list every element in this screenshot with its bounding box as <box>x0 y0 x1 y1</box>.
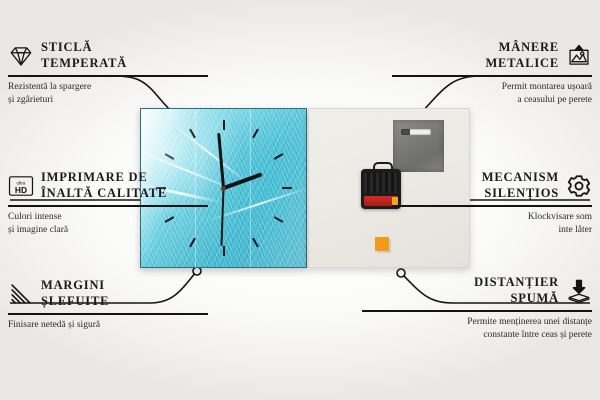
foam-spacer <box>375 237 389 251</box>
clock-minute-hand <box>217 133 225 188</box>
svg-text:HD: HD <box>15 185 27 195</box>
gear-icon <box>566 173 592 199</box>
clock-hour-hand <box>223 172 262 189</box>
callout-imprimare-hd: ultra HD IMPRIMARE DEÎNALTĂ CALITATE Cul… <box>8 170 208 236</box>
callout-rule <box>8 205 208 207</box>
metal-hanger-plate <box>393 120 444 172</box>
callout-rule <box>8 313 208 315</box>
callout-subtitle: Klockvisare sominte låter <box>392 211 592 237</box>
callout-rule <box>8 75 208 77</box>
infographic-canvas: STICLĂTEMPERATĂ Rezistentă la spargereși… <box>0 0 600 400</box>
callout-rule <box>362 310 592 312</box>
mechanism-hanging-loop <box>373 162 393 173</box>
ultra-hd-icon: ultra HD <box>8 173 34 199</box>
callout-title: STICLĂTEMPERATĂ <box>41 40 127 71</box>
callout-subtitle: Permite menținerea unei distanțeconstant… <box>362 316 592 342</box>
polished-edge-icon <box>8 281 34 307</box>
callout-title: MARGINIȘLEFUITE <box>41 278 109 309</box>
arrow-down-pad-icon <box>566 278 592 304</box>
callout-title: MÂNEREMETALICE <box>485 40 559 71</box>
diamond-icon <box>8 43 34 69</box>
callout-sticla-temperata: STICLĂTEMPERATĂ Rezistentă la spargereși… <box>8 40 208 106</box>
callout-subtitle: Finisare netedă și sigură <box>8 319 208 332</box>
callout-subtitle: Permit montarea ușoarăa ceasului pe pere… <box>392 81 592 107</box>
clock-second-hand <box>221 188 225 246</box>
callout-distantier-spuma: DISTANȚIERSPUMĂ Permite menținerea unei … <box>362 275 592 341</box>
callout-subtitle: Rezistentă la spargereși zgârieturi <box>8 81 208 107</box>
callout-rule <box>392 75 592 77</box>
callout-title: MECANISMSILENȚIOS <box>482 170 559 201</box>
callout-rule <box>392 205 592 207</box>
callout-manere-metalice: MÂNEREMETALICE Permit montarea ușoarăa c… <box>392 40 592 106</box>
callout-title: DISTANȚIERSPUMĂ <box>474 275 559 306</box>
clock-center-cap <box>221 186 226 191</box>
callout-margini-slefuite: MARGINIȘLEFUITE Finisare netedă și sigur… <box>8 278 208 332</box>
callout-mecanism-silentios: MECANISMSILENȚIOS Klockvisare sominte lå… <box>392 170 592 236</box>
picture-frame-hanger-icon <box>566 43 592 69</box>
callout-subtitle: Culori intenseși imagine clară <box>8 211 208 237</box>
callout-title: IMPRIMARE DEÎNALTĂ CALITATE <box>41 170 167 201</box>
